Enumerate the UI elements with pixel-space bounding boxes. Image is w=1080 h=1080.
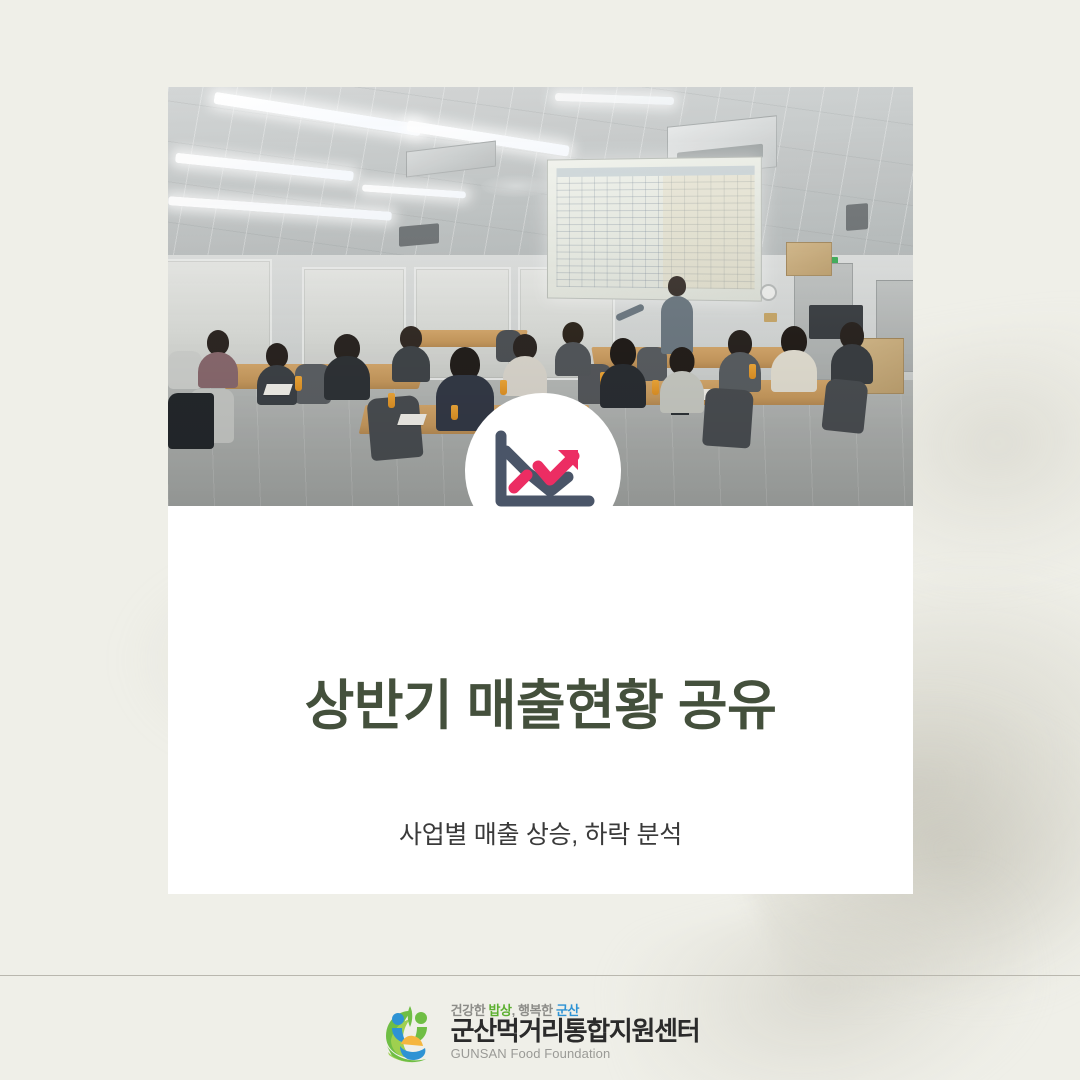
- footer-divider: [0, 975, 1080, 976]
- content-card: 상반기 매출현황 공유 사업별 매출 상승, 하락 분석: [168, 87, 913, 894]
- footer-logo-bar: 건강한 밥상, 행복한 군산 군산먹거리통합지원센터 GUNSAN Food F…: [0, 985, 1080, 1080]
- sales-chart-badge: [465, 393, 621, 549]
- gunsan-food-foundation-emblem-icon: [381, 1002, 439, 1064]
- poster-page: 상반기 매출현황 공유 사업별 매출 상승, 하락 분석: [0, 0, 1080, 1080]
- page-title: 상반기 매출현황 공유: [168, 674, 913, 739]
- page-subtitle: 사업별 매출 상승, 하락 분석: [168, 815, 913, 851]
- logo-name-korean: 군산먹거리통합지원센터: [451, 1018, 700, 1045]
- sales-chart-trend-icon: [490, 430, 596, 512]
- logo-text-group: 건강한 밥상, 행복한 군산 군산먹거리통합지원센터 GUNSAN Food F…: [451, 1004, 700, 1061]
- logo-name-english: GUNSAN Food Foundation: [451, 1047, 700, 1061]
- text-block: 상반기 매출현황 공유 사업별 매출 상승, 하락 분석: [168, 506, 913, 894]
